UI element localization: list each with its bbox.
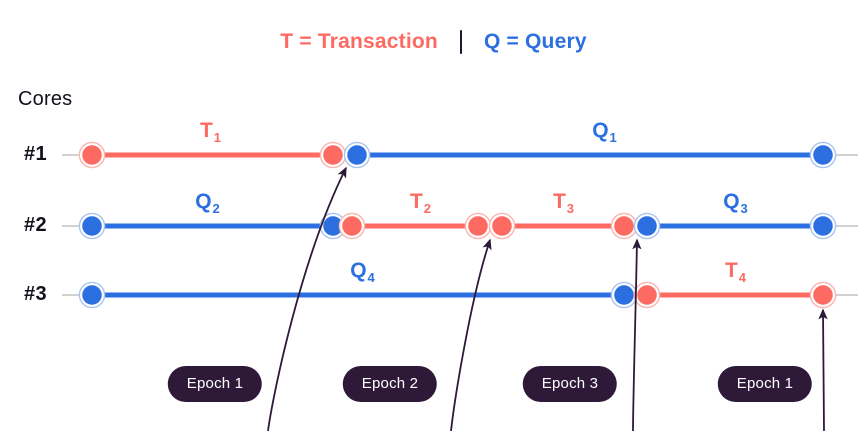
segment-label-T1-text: T: [200, 119, 213, 142]
diagram-canvas: T = Transaction Q = Query Cores #1 #2 #3…: [0, 0, 867, 431]
node-T3-start: [491, 215, 513, 237]
core-2-track: [79, 213, 835, 238]
segment-label-Q2-sub: 2: [213, 201, 220, 216]
node-T4-start: [636, 284, 658, 306]
segment-label-Q4-sub: 4: [368, 270, 375, 285]
core-label-2: #2: [24, 214, 47, 237]
node-T4-end: [812, 284, 834, 306]
node-Q1-end: [812, 144, 834, 166]
epoch-badge-2[interactable]: Epoch 2: [343, 366, 437, 402]
segment-label-T2-text: T: [410, 190, 423, 213]
segment-label-T2: T2: [410, 190, 430, 214]
segment-label-Q4-text: Q: [350, 259, 366, 282]
node-Q3-start: [636, 215, 658, 237]
segment-label-Q1: Q1: [592, 119, 616, 143]
page-title: Cores: [18, 88, 72, 111]
node-T2-start: [341, 215, 363, 237]
node-Q4-end: [613, 284, 635, 306]
segment-label-Q2: Q2: [195, 190, 219, 214]
segment-label-T3-text: T: [553, 190, 566, 213]
epoch-leader-3: [633, 240, 637, 431]
segment-label-T1-sub: 1: [214, 130, 221, 145]
core-label-1: #1: [24, 143, 47, 166]
node-Q2-start: [81, 215, 103, 237]
epoch-badge-4[interactable]: Epoch 1: [718, 366, 812, 402]
node-T1-start: [81, 144, 103, 166]
segment-label-T4-sub: 4: [739, 270, 746, 285]
node-T3-end: [613, 215, 635, 237]
segment-label-T4: T4: [725, 259, 745, 283]
node-Q4-start: [81, 284, 103, 306]
core-1-track: [79, 142, 835, 167]
epoch-leader-2: [451, 240, 490, 431]
segment-label-Q1-text: Q: [592, 119, 608, 142]
node-Q3-end: [812, 215, 834, 237]
segment-label-Q2-text: Q: [195, 190, 211, 213]
core-3-track: [79, 282, 835, 307]
core-label-3: #3: [24, 283, 47, 306]
segment-label-Q1-sub: 1: [610, 130, 617, 145]
segment-label-T4-text: T: [725, 259, 738, 282]
segment-label-Q3-sub: 3: [741, 201, 748, 216]
node-T1-end: [322, 144, 344, 166]
segment-label-Q3-text: Q: [723, 190, 739, 213]
epoch-leader-4: [823, 310, 824, 431]
node-T2-end: [467, 215, 489, 237]
segment-label-T3: T3: [553, 190, 573, 214]
epoch-badge-3[interactable]: Epoch 3: [523, 366, 617, 402]
segment-label-T3-sub: 3: [567, 201, 574, 216]
segment-label-T2-sub: 2: [424, 201, 431, 216]
node-Q1-start: [346, 144, 368, 166]
epoch-leader-1: [268, 168, 346, 431]
segment-label-Q4: Q4: [350, 259, 374, 283]
segment-label-Q3: Q3: [723, 190, 747, 214]
epoch-badge-1[interactable]: Epoch 1: [168, 366, 262, 402]
segment-label-T1: T1: [200, 119, 220, 143]
